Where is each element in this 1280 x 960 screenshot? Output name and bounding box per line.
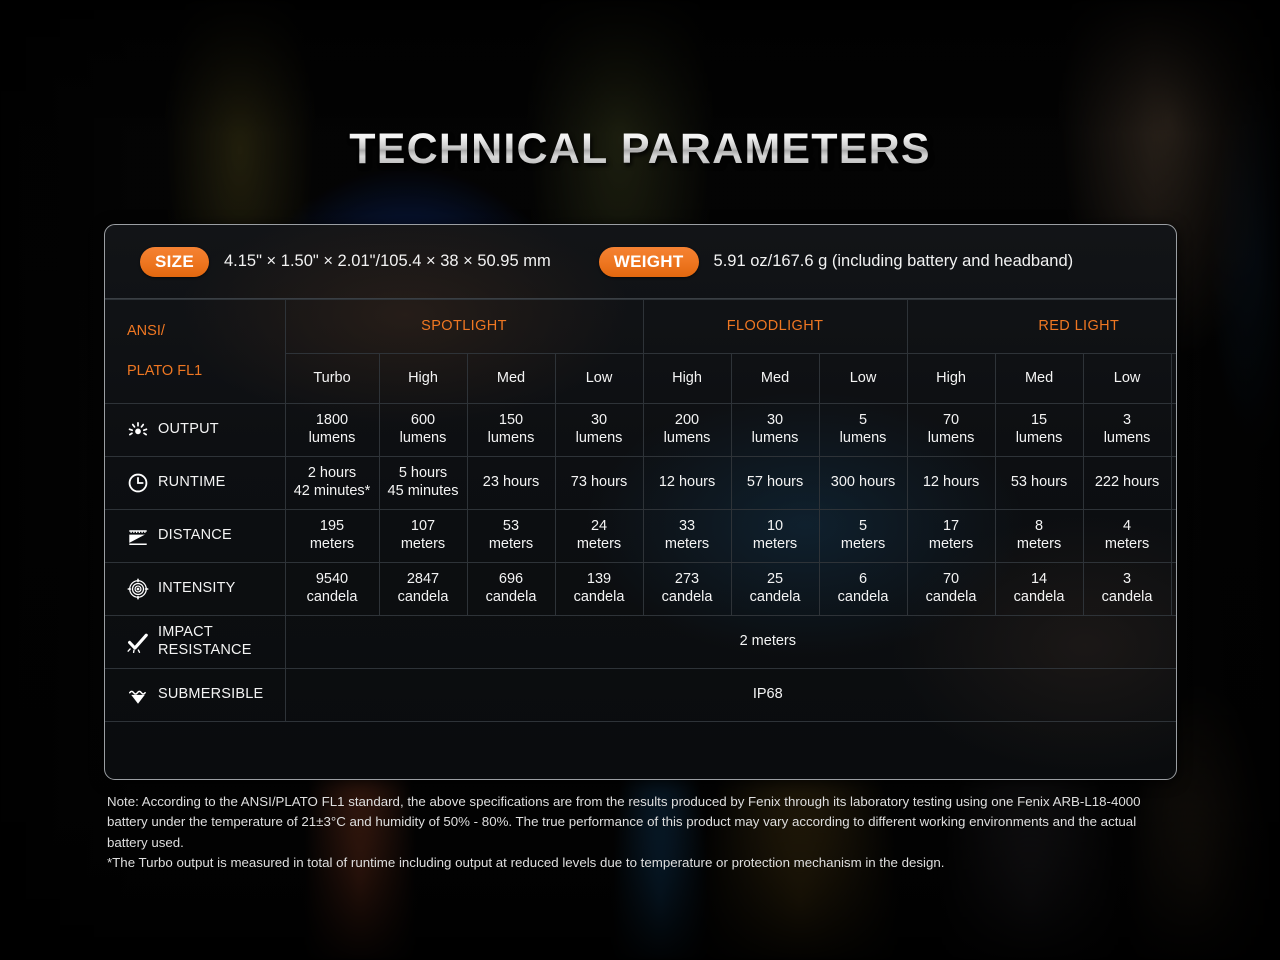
- cell-line: 8: [998, 518, 1081, 536]
- table-cell: 3lumens: [1171, 404, 1177, 457]
- table-cell: 70candela: [907, 563, 995, 616]
- table-cell: 139candela: [555, 563, 643, 616]
- cell-line: candela: [382, 589, 465, 607]
- table-cell: /: [1171, 510, 1177, 563]
- cell-line: lumens: [470, 430, 553, 448]
- cell-line: 23 hours: [470, 474, 553, 492]
- table-cell: 3candela: [1083, 563, 1171, 616]
- ansi-plato-label: ANSI/ PLATO FL1: [105, 300, 285, 404]
- submersible-icon: [127, 684, 149, 706]
- table-cell: 9540candela: [285, 563, 379, 616]
- cell-line: candela: [910, 589, 993, 607]
- cell-line: 12 hours: [910, 474, 993, 492]
- row-label-text: DISTANCE: [158, 527, 232, 545]
- table-cell: 53 hours: [995, 457, 1083, 510]
- row-label-text: INTENSITY: [158, 580, 236, 598]
- cell-line: candela: [998, 589, 1081, 607]
- cell-line: meters: [646, 536, 729, 554]
- cell-line: lumens: [734, 430, 817, 448]
- clock-icon: [127, 472, 149, 494]
- cell-line: lumens: [288, 430, 377, 448]
- row-label-intensity: INTENSITY: [105, 563, 285, 616]
- mode-header: Low: [1083, 354, 1171, 404]
- row-label-text: SUBMERSIBLE: [158, 686, 263, 704]
- cell-line: lumens: [382, 430, 465, 448]
- size-value: 4.15" × 1.50" × 2.01"/105.4 × 38 × 50.95…: [224, 252, 551, 271]
- table-cell: /: [1171, 457, 1177, 510]
- table-cell: 4meters: [1083, 510, 1171, 563]
- specifications-table: ANSI/ PLATO FL1 SPOTLIGHT FLOODLIGHT RED…: [105, 299, 1177, 722]
- table-row: OUTPUT1800lumens600lumens150lumens30lume…: [105, 404, 1177, 457]
- weight-badge: WEIGHT: [599, 247, 699, 277]
- cell-line: lumens: [558, 430, 641, 448]
- cell-line: lumens: [646, 430, 729, 448]
- table-cell: 600lumens: [379, 404, 467, 457]
- table-row: INTENSITY9540candela2847candela696candel…: [105, 563, 1177, 616]
- cell-line: 273: [646, 571, 729, 589]
- mode-header: Low: [819, 354, 907, 404]
- mode-header: Med: [731, 354, 819, 404]
- cell-line: lumens: [1086, 430, 1169, 448]
- cell-line: 33: [646, 518, 729, 536]
- cell-line: candela: [734, 589, 817, 607]
- cell-line: /: [1174, 474, 1177, 492]
- mode-header: Med: [995, 354, 1083, 404]
- table-row: RUNTIME2 hours42 minutes*5 hours45 minut…: [105, 457, 1177, 510]
- row-label-impact: IMPACTRESISTANCE: [105, 616, 285, 669]
- mode-header: High: [643, 354, 731, 404]
- row-label-distance: DISTANCE: [105, 510, 285, 563]
- table-cell: 30lumens: [555, 404, 643, 457]
- table-cell: 200lumens: [643, 404, 731, 457]
- cell-line: 42 minutes*: [288, 483, 377, 501]
- table-cell: 33meters: [643, 510, 731, 563]
- cell-line: 25: [734, 571, 817, 589]
- table-cell: 6candela: [819, 563, 907, 616]
- cell-line: /: [1174, 580, 1177, 598]
- table-cell: 300 hours: [819, 457, 907, 510]
- table-cell: 5lumens: [819, 404, 907, 457]
- cell-line: 200: [646, 412, 729, 430]
- table-cell: 15lumens: [995, 404, 1083, 457]
- cell-line: meters: [288, 536, 377, 554]
- group-header-floodlight: FLOODLIGHT: [643, 300, 907, 354]
- weight-value: 5.91 oz/167.6 g (including battery and h…: [714, 252, 1074, 271]
- table-cell: 12 hours: [907, 457, 995, 510]
- cell-line: 150: [470, 412, 553, 430]
- table-cell: 273candela: [643, 563, 731, 616]
- table-cell: 1800lumens: [285, 404, 379, 457]
- footnote-line-2: *The Turbo output is measured in total o…: [107, 853, 1177, 873]
- cell-line: candela: [646, 589, 729, 607]
- table-cell: 2 hours42 minutes*: [285, 457, 379, 510]
- table-cell: 10meters: [731, 510, 819, 563]
- cell-line: 696: [470, 571, 553, 589]
- cell-line: lumens: [1174, 430, 1177, 448]
- cell-line: /: [1174, 527, 1177, 545]
- mode-header: High: [379, 354, 467, 404]
- cell-line: 53 hours: [998, 474, 1081, 492]
- row-label-submersible: SUBMERSIBLE: [105, 669, 285, 722]
- cell-line: 4: [1086, 518, 1169, 536]
- row-label-output: OUTPUT: [105, 404, 285, 457]
- specifications-body: OUTPUT1800lumens600lumens150lumens30lume…: [105, 404, 1177, 722]
- cell-line: lumens: [910, 430, 993, 448]
- cell-line: 6: [822, 571, 905, 589]
- cell-line: lumens: [822, 430, 905, 448]
- row-label-text: IMPACTRESISTANCE: [158, 624, 252, 659]
- cell-line: 73 hours: [558, 474, 641, 492]
- table-cell: 8meters: [995, 510, 1083, 563]
- table-cell: 696candela: [467, 563, 555, 616]
- table-cell: 24meters: [555, 510, 643, 563]
- cell-line: 139: [558, 571, 641, 589]
- cell-line: 5 hours: [382, 465, 465, 483]
- table-cell: 150lumens: [467, 404, 555, 457]
- cell-line: 3: [1086, 571, 1169, 589]
- cell-line: 10: [734, 518, 817, 536]
- table-cell: 14candela: [995, 563, 1083, 616]
- ansi-line-1: ANSI/: [127, 323, 283, 341]
- table-cell: 107meters: [379, 510, 467, 563]
- cell-line: candela: [470, 589, 553, 607]
- table-cell: 23 hours: [467, 457, 555, 510]
- footnote-line-1: Note: According to the ANSI/PLATO FL1 st…: [107, 792, 1177, 853]
- cell-line: meters: [734, 536, 817, 554]
- cell-line: meters: [1086, 536, 1169, 554]
- cell-line: 17: [910, 518, 993, 536]
- table-cell: 5 hours45 minutes: [379, 457, 467, 510]
- table-cell: /: [1171, 563, 1177, 616]
- size-weight-strip: SIZE 4.15" × 1.50" × 2.01"/105.4 × 38 × …: [105, 225, 1176, 299]
- table-cell: 2847candela: [379, 563, 467, 616]
- table-cell: 5meters: [819, 510, 907, 563]
- row-label-text: OUTPUT: [158, 421, 219, 439]
- cell-line: 5: [822, 518, 905, 536]
- page-title: TECHNICAL PARAMETERS: [0, 128, 1280, 171]
- ansi-line-2: PLATO FL1: [127, 363, 283, 381]
- target-icon: [127, 578, 149, 600]
- starburst-icon: [127, 419, 149, 441]
- cell-line: 9540: [288, 571, 377, 589]
- cell-line: lumens: [998, 430, 1081, 448]
- cell-line: meters: [822, 536, 905, 554]
- table-cell: 30lumens: [731, 404, 819, 457]
- row-label-runtime: RUNTIME: [105, 457, 285, 510]
- table-row: DISTANCE195meters107meters53meters24mete…: [105, 510, 1177, 563]
- cell-line: 30: [734, 412, 817, 430]
- group-header-spotlight: SPOTLIGHT: [285, 300, 643, 354]
- cell-line: 53: [470, 518, 553, 536]
- mode-header: Med: [467, 354, 555, 404]
- cell-line: candela: [288, 589, 377, 607]
- table-cell-fullwidth: 2 meters: [285, 616, 1177, 669]
- cell-line: 5: [822, 412, 905, 430]
- cell-line: meters: [470, 536, 553, 554]
- size-badge: SIZE: [140, 247, 209, 277]
- table-row: IMPACTRESISTANCE2 meters: [105, 616, 1177, 669]
- row-label-text: RUNTIME: [158, 474, 225, 492]
- cell-line: candela: [822, 589, 905, 607]
- cell-line: 12 hours: [646, 474, 729, 492]
- group-header-row: ANSI/ PLATO FL1 SPOTLIGHT FLOODLIGHT RED…: [105, 300, 1177, 354]
- footnote: Note: According to the ANSI/PLATO FL1 st…: [107, 792, 1177, 873]
- cell-line: 15: [998, 412, 1081, 430]
- mode-header: Low: [555, 354, 643, 404]
- impact-icon: [127, 631, 149, 653]
- cell-line: 1800: [288, 412, 377, 430]
- table-cell: 25candela: [731, 563, 819, 616]
- table-cell: 57 hours: [731, 457, 819, 510]
- cell-line: 70: [910, 571, 993, 589]
- cell-line: 2847: [382, 571, 465, 589]
- mode-header: Turbo: [285, 354, 379, 404]
- table-cell: 70lumens: [907, 404, 995, 457]
- cell-line: meters: [558, 536, 641, 554]
- table-cell: 195meters: [285, 510, 379, 563]
- mode-header: High: [907, 354, 995, 404]
- table-cell: 73 hours: [555, 457, 643, 510]
- cell-line: 70: [910, 412, 993, 430]
- spec-panel: SIZE 4.15" × 1.50" × 2.01"/105.4 × 38 × …: [104, 224, 1177, 780]
- table-cell-fullwidth: IP68: [285, 669, 1177, 722]
- table-row: SUBMERSIBLEIP68: [105, 669, 1177, 722]
- table-cell: 53meters: [467, 510, 555, 563]
- cell-line: 3: [1174, 412, 1177, 430]
- cell-line: 57 hours: [734, 474, 817, 492]
- cell-line: candela: [1086, 589, 1169, 607]
- table-cell: 17meters: [907, 510, 995, 563]
- cell-line: candela: [558, 589, 641, 607]
- cell-line: meters: [998, 536, 1081, 554]
- cell-line: 24: [558, 518, 641, 536]
- group-header-redlight: RED LIGHT: [907, 300, 1177, 354]
- beam-distance-icon: [127, 525, 149, 547]
- cell-line: 3: [1086, 412, 1169, 430]
- cell-line: 30: [558, 412, 641, 430]
- cell-line: 107: [382, 518, 465, 536]
- table-cell: 3lumens: [1083, 404, 1171, 457]
- table-cell: 222 hours: [1083, 457, 1171, 510]
- cell-line: 600: [382, 412, 465, 430]
- cell-line: 2 hours: [288, 465, 377, 483]
- cell-line: 45 minutes: [382, 483, 465, 501]
- cell-line: 14: [998, 571, 1081, 589]
- cell-line: 195: [288, 518, 377, 536]
- table-cell: 12 hours: [643, 457, 731, 510]
- cell-line: 300 hours: [822, 474, 905, 492]
- cell-line: meters: [382, 536, 465, 554]
- cell-line: 222 hours: [1086, 474, 1169, 492]
- cell-line: meters: [910, 536, 993, 554]
- mode-header: Flash: [1171, 354, 1177, 404]
